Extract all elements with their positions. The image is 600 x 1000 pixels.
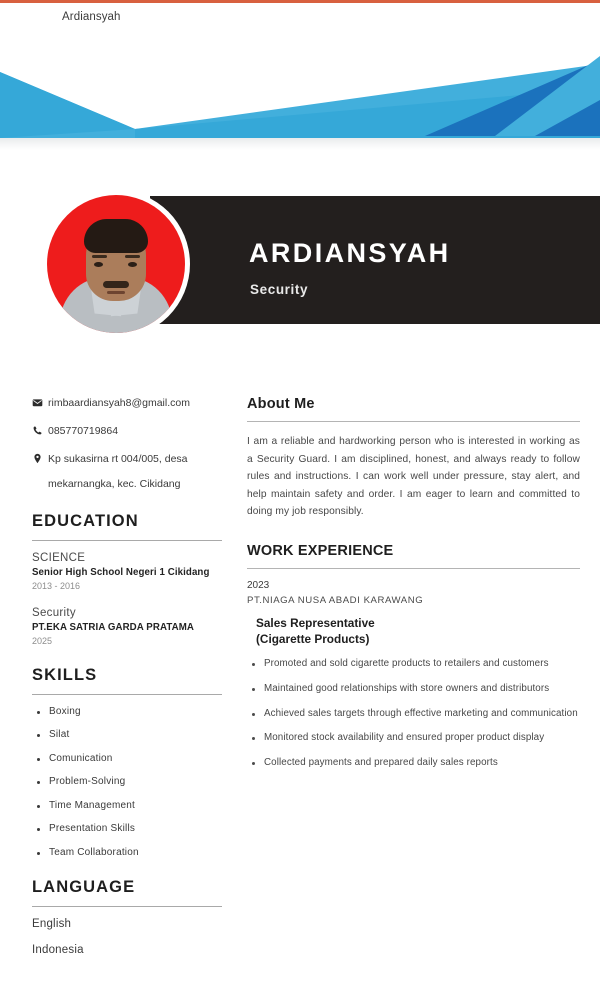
- education-major: SCIENCE: [32, 552, 222, 564]
- resume-page: Ardiansyah ARDIANSYAH Security: [0, 0, 600, 1000]
- top-accent-rule: [0, 0, 600, 3]
- list-item: Monitored stock availability and ensured…: [247, 731, 580, 746]
- work-bullet-list: Promoted and sold cigarette products to …: [247, 657, 580, 770]
- education-item: Security PT.EKA SATRIA GARDA PRATAMA 202…: [32, 607, 222, 646]
- banner-shadow-strip: [0, 138, 600, 150]
- photo-brow-right: [125, 255, 140, 258]
- photo-moustache: [103, 281, 129, 288]
- education-school: Senior High School Negeri 1 Cikidang: [32, 567, 222, 578]
- language-divider: [32, 906, 222, 907]
- education-school: PT.EKA SATRIA GARDA PRATAMA: [32, 622, 222, 633]
- list-item: Maintained good relationships with store…: [247, 682, 580, 697]
- contact-address-line2: mekarnangka, kec. Cikidang: [48, 477, 222, 492]
- page-title: ARDIANSYAH: [249, 238, 451, 269]
- contact-row-email: rimbaardiansyah8@gmail.com: [32, 396, 222, 411]
- list-item: Collected payments and prepared daily sa…: [247, 756, 580, 771]
- list-item: Achieved sales targets through effective…: [247, 707, 580, 722]
- work-experience-heading: WORK EXPERIENCE: [247, 543, 580, 559]
- work-experience-divider: [247, 568, 580, 569]
- photo-brow-left: [92, 255, 107, 258]
- list-item: Comunication: [32, 753, 222, 764]
- photo-eye-left: [94, 262, 103, 267]
- location-pin-icon: [32, 452, 48, 464]
- document-tab-label: Ardiansyah: [62, 11, 121, 23]
- contact-address-value: Kp sukasirna rt 004/005, desa mekarnangk…: [48, 452, 222, 491]
- about-divider: [247, 421, 580, 422]
- header-banner-graphic: [0, 28, 600, 138]
- right-column: About Me I am a reliable and hardworking…: [247, 396, 580, 781]
- avatar: [42, 190, 190, 338]
- contact-address-line1: Kp sukasirna rt 004/005, desa: [48, 453, 188, 465]
- list-item: Indonesia: [32, 944, 222, 956]
- list-item: Presentation Skills: [32, 823, 222, 834]
- language-heading: LANGUAGE: [32, 878, 222, 897]
- education-years: 2025: [32, 636, 222, 646]
- education-divider: [32, 540, 222, 541]
- work-job-title-line1: Sales Representative: [256, 616, 375, 630]
- photo-hair: [84, 219, 148, 253]
- photo-eye-right: [128, 262, 137, 267]
- work-company: PT.NIAGA NUSA ABADI KARAWANG: [247, 595, 580, 606]
- list-item: Problem-Solving: [32, 776, 222, 787]
- contact-row-address: Kp sukasirna rt 004/005, desa mekarnangk…: [32, 452, 222, 491]
- education-item: SCIENCE Senior High School Negeri 1 Ciki…: [32, 552, 222, 591]
- skills-divider: [32, 694, 222, 695]
- list-item: Team Collaboration: [32, 847, 222, 858]
- list-item: Boxing: [32, 706, 222, 717]
- photo-mouth: [107, 291, 125, 294]
- contact-phone-value: 085770719864: [48, 424, 222, 439]
- work-year: 2023: [247, 580, 580, 591]
- education-major: Security: [32, 607, 222, 619]
- skills-heading: SKILLS: [32, 666, 222, 685]
- left-column: rimbaardiansyah8@gmail.com 085770719864 …: [32, 396, 222, 970]
- job-role-subtitle: Security: [250, 282, 308, 297]
- skills-list: Boxing Silat Comunication Problem-Solvin…: [32, 706, 222, 858]
- list-item: Promoted and sold cigarette products to …: [247, 657, 580, 672]
- education-years: 2013 - 2016: [32, 581, 222, 591]
- list-item: English: [32, 918, 222, 930]
- work-entry: 2023 PT.NIAGA NUSA ABADI KARAWANG Sales …: [247, 580, 580, 771]
- list-item: Time Management: [32, 800, 222, 811]
- phone-icon: [32, 424, 48, 436]
- contact-row-phone: 085770719864: [32, 424, 222, 439]
- banner-shapes: [0, 28, 600, 138]
- about-heading: About Me: [247, 396, 580, 412]
- profile-photo: [47, 195, 185, 333]
- work-job-title-line2: (Cigarette Products): [256, 632, 369, 646]
- education-heading: EDUCATION: [32, 512, 222, 531]
- list-item: Silat: [32, 729, 222, 740]
- contact-email-value: rimbaardiansyah8@gmail.com: [48, 396, 222, 411]
- work-job-title: Sales Representative (Cigarette Products…: [247, 615, 580, 649]
- about-paragraph: I am a reliable and hardworking person w…: [247, 433, 580, 521]
- envelope-icon: [32, 396, 48, 408]
